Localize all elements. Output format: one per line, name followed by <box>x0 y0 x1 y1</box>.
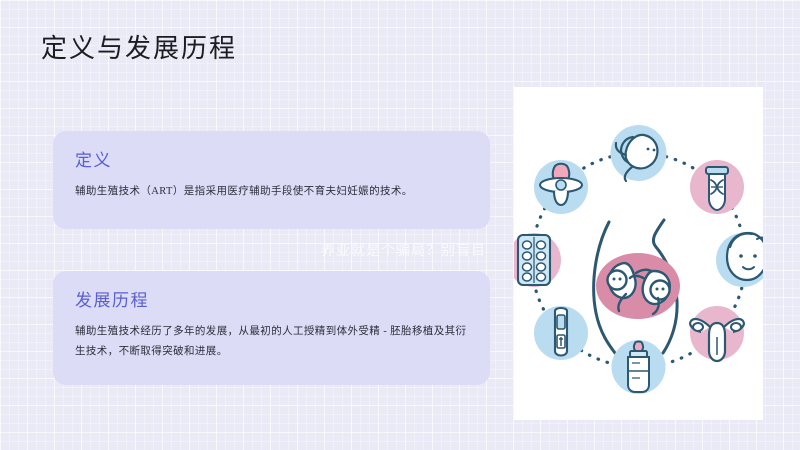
baby-bottle-icon <box>612 340 666 394</box>
fertility-infographic-illustration <box>514 87 763 420</box>
watermark-text: 养亚就是个骗局？别盲目 <box>296 240 511 261</box>
pill-blister-pack-icon <box>514 233 561 287</box>
card-heading-history: 发展历程 <box>75 289 468 313</box>
page-title: 定义与发展历程 <box>41 32 237 66</box>
card-body-history: 辅助生殖技术经历了多年的发展，从最初的人工授精到体外受精 - 胚胎移植及其衍生技… <box>75 322 468 362</box>
dna-test-tube-icon <box>690 160 744 214</box>
content-card-definition: 定义 辅助生殖技术（ART）是指采用医疗辅助手段使不育夫妇妊娠的技术。 <box>53 131 490 229</box>
pacifier-icon <box>534 160 588 214</box>
baby-face-icon <box>716 233 763 287</box>
fetus-icon <box>611 125 667 181</box>
card-body-definition: 辅助生殖技术（ART）是指采用医疗辅助手段使不育夫妇妊娠的技术。 <box>75 182 468 202</box>
content-card-history: 发展历程 辅助生殖技术经历了多年的发展，从最初的人工授精到体外受精 - 胚胎移植… <box>53 271 490 385</box>
slide-canvas: 定义与发展历程 定义 辅助生殖技术（ART）是指采用医疗辅助手段使不育夫妇妊娠的… <box>0 0 800 450</box>
illustration-panel <box>514 87 763 420</box>
pregnancy-test-icon <box>534 306 588 360</box>
pregnant-belly-icon <box>594 220 680 353</box>
card-heading-definition: 定义 <box>75 149 468 173</box>
uterus-icon <box>690 306 744 361</box>
